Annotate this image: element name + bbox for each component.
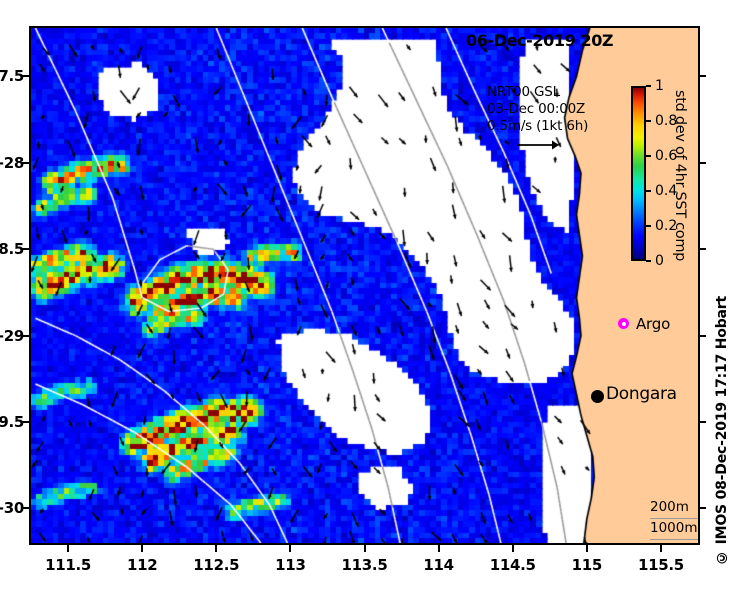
x-axis-label: 113.5 (342, 556, 388, 574)
plot-title: 06-Dec-2019 20Z (466, 31, 613, 50)
reference-arrow-icon (516, 138, 560, 152)
y-axis-label: -27.5 (0, 67, 24, 85)
map-plot-area[interactable] (29, 26, 700, 545)
vector-and-contour-overlay (31, 28, 698, 543)
y-axis-tick-right (698, 507, 706, 509)
x-axis-label: 113 (275, 556, 305, 574)
x-axis-tick (364, 545, 366, 552)
bathymetry-key: 200m 1000m (650, 498, 698, 540)
y-axis-tick-right (698, 248, 706, 250)
dongara-marker-icon (591, 390, 604, 403)
colorbar-tick (646, 120, 651, 122)
x-axis-tick (586, 545, 588, 552)
x-axis-label: 115 (572, 556, 602, 574)
x-axis-label: 114 (423, 556, 453, 574)
x-axis-label: 111.5 (45, 556, 91, 574)
argo-marker-icon (618, 318, 629, 329)
colorbar-tick (646, 155, 651, 157)
x-axis-tick (438, 545, 440, 552)
copyright-text: © IMOS 08-Dec-2019 17:17 Hobart (714, 296, 730, 565)
y-axis-label: -28.5 (0, 240, 24, 258)
colorbar-gradient (631, 86, 646, 261)
x-axis-tick (512, 545, 514, 552)
y-axis-label: -29.5 (0, 413, 24, 431)
y-axis-label: -28 (0, 154, 24, 172)
colorbar-tick-label: 0 (655, 253, 664, 269)
vector-legend-line3: 0.5m/s (1kt 6h) (487, 118, 588, 135)
dongara-label: Dongara (606, 384, 677, 404)
x-axis-tick (141, 545, 143, 552)
colorbar-tick (646, 260, 651, 262)
y-axis-tick-right (698, 421, 706, 423)
x-axis-tick (215, 545, 217, 552)
x-axis-tick (660, 545, 662, 552)
colorbar-tick-label: 1 (655, 78, 664, 94)
colorbar-tick (646, 190, 651, 192)
colorbar-tick (646, 85, 651, 87)
bathymetry-key-200m: 200m (650, 498, 698, 519)
y-axis-label: -30 (0, 499, 24, 517)
bathymetry-key-1000m: 1000m (650, 519, 698, 540)
y-axis-tick-right (698, 162, 706, 164)
x-axis-label: 115.5 (638, 556, 684, 574)
figure-canvas: 06-Dec-2019 20Z NRT00 GSL 03-Dec 00:00Z … (0, 0, 739, 592)
colorbar-title: std dev of 4hr SST comp (672, 90, 688, 261)
vector-legend: NRT00 GSL 03-Dec 00:00Z 0.5m/s (1kt 6h) (487, 84, 588, 135)
x-axis-label: 114.5 (490, 556, 536, 574)
y-axis-label: -29 (0, 327, 24, 345)
y-axis-tick-right (698, 75, 706, 77)
colorbar-tick (646, 225, 651, 227)
x-axis-tick (289, 545, 291, 552)
vector-legend-line2: 03-Dec 00:00Z (487, 101, 588, 118)
y-axis-tick-right (698, 335, 706, 337)
argo-label: Argo (636, 315, 670, 333)
x-axis-tick (67, 545, 69, 552)
vector-legend-line1: NRT00 GSL (487, 84, 588, 101)
x-axis-label: 112.5 (193, 556, 239, 574)
x-axis-label: 112 (127, 556, 157, 574)
